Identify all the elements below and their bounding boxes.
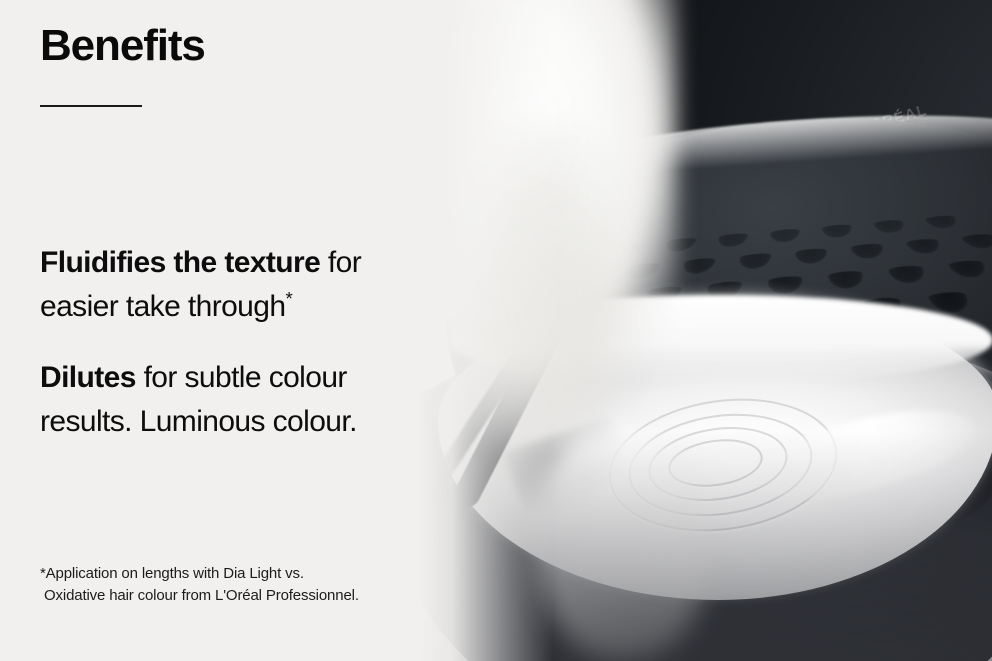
bowl-dimple	[795, 248, 828, 265]
bowl-dimple	[680, 257, 716, 275]
footnote: *Application on lengths with Dia Light v…	[40, 563, 359, 607]
bowl-dimple	[822, 224, 854, 239]
page-title: Benefits	[40, 24, 205, 68]
bowl-dimple	[960, 233, 992, 250]
bowl-dimple	[767, 275, 803, 295]
benefits-list: Fluidifies the texture for easier take t…	[40, 241, 435, 444]
bowl-dimple	[924, 215, 960, 230]
text-panel: Benefits Fluidifies the texture for easi…	[0, 0, 440, 661]
footnote-marker: *	[285, 288, 292, 309]
bowl-dimple	[873, 219, 907, 234]
bowl-dimple	[887, 265, 928, 285]
footnote-line-2: Oxidative hair colour from L'Oréal Profe…	[40, 587, 359, 604]
bowl-dimple	[927, 291, 974, 314]
slide-canvas: L'ORÉAL PROFESSIONNEL Benefits Fluidifie…	[0, 0, 992, 661]
bowl-dimple	[716, 233, 748, 248]
bowl-dimple	[905, 238, 943, 255]
bowl-dimple	[947, 260, 991, 279]
product-photo: L'ORÉAL PROFESSIONNEL	[418, 0, 992, 661]
bowl-dimple	[738, 253, 771, 271]
title-underline-rule	[40, 105, 142, 107]
benefit-headline: Fluidifies the texture	[40, 246, 320, 279]
benefit-item: Dilutes for subtle colour results. Lumin…	[40, 356, 435, 444]
benefit-item: Fluidifies the texture for easier take t…	[40, 241, 435, 329]
bowl-dimple	[850, 243, 886, 260]
footnote-line-1: *Application on lengths with Dia Light v…	[40, 565, 304, 582]
bowl-dimple	[828, 270, 866, 290]
bowl-dimple	[770, 228, 800, 243]
benefit-headline: Dilutes	[40, 361, 136, 394]
